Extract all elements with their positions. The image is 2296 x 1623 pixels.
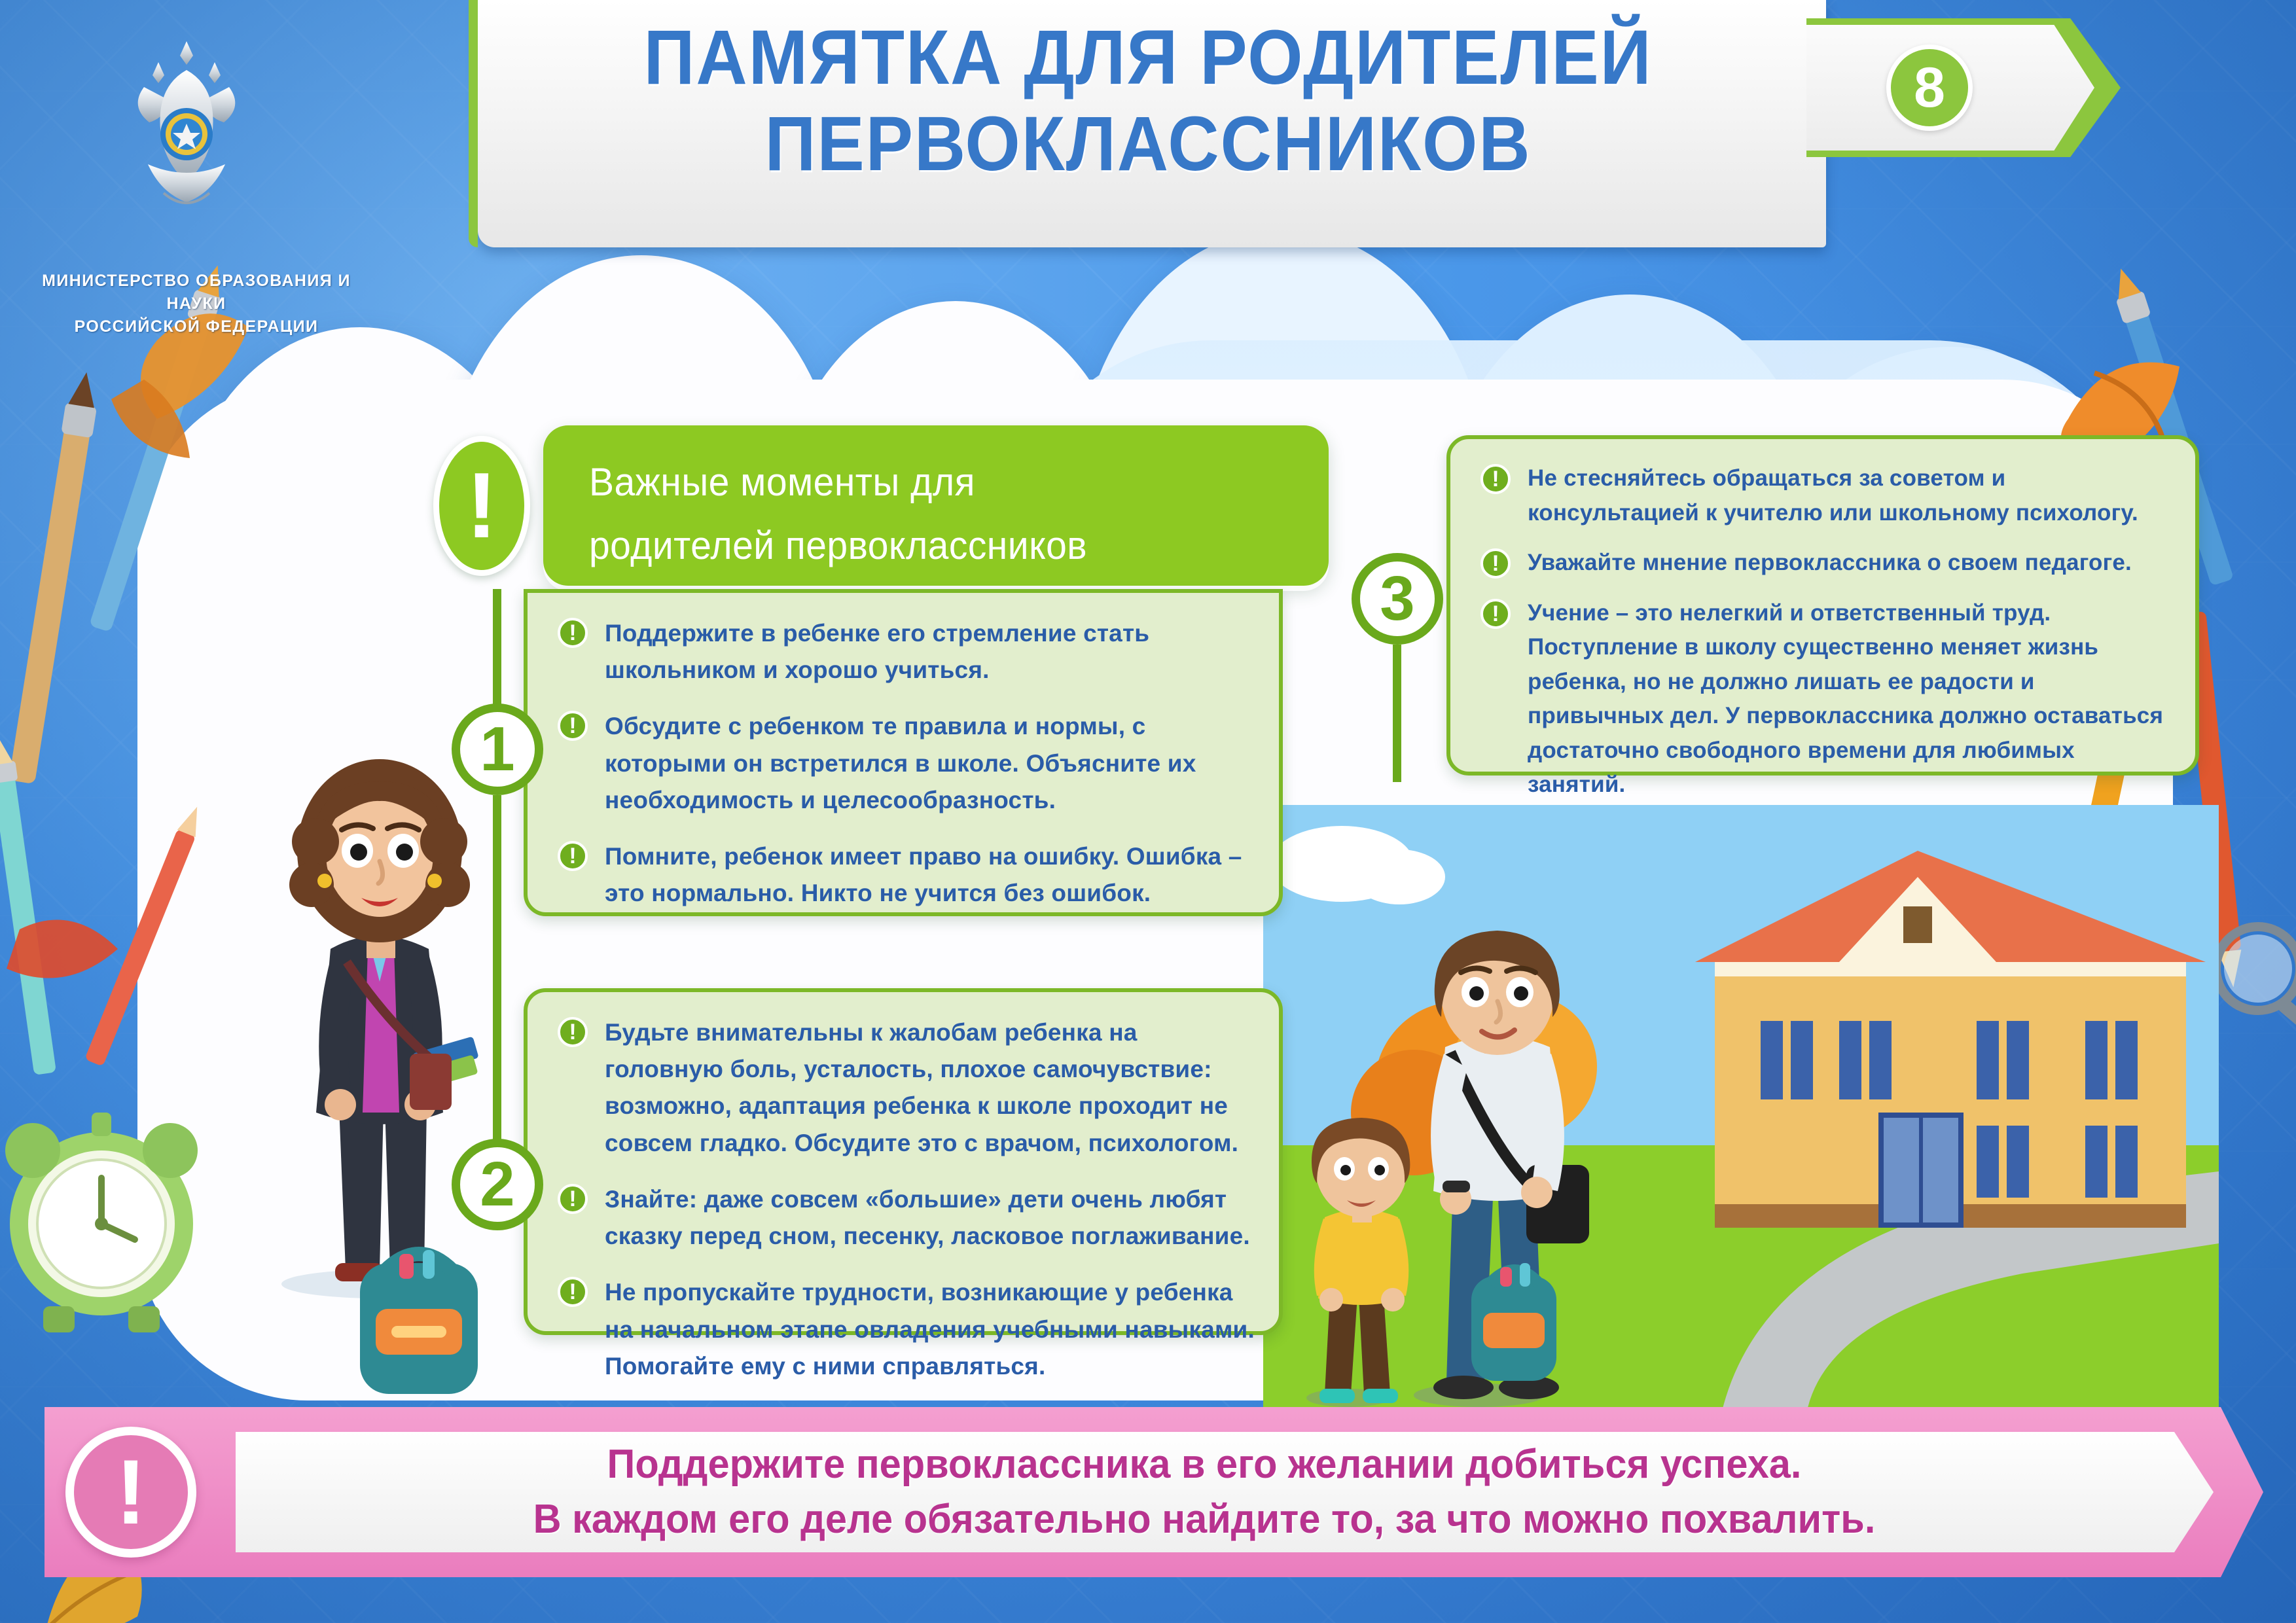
page-number-badge: 8 — [1886, 45, 1973, 131]
exclamation-bullet-icon: ! — [1480, 599, 1511, 629]
exclamation-bullet-icon: ! — [558, 1017, 588, 1047]
footer-line-1: Поддержите первоклассника в его желании … — [274, 1437, 2134, 1492]
exclamation-bullet-icon: ! — [558, 1184, 588, 1214]
russian-federation-eagle-emblem-icon — [124, 36, 249, 239]
list-item: ! Помните, ребенок имеет право на ошибку… — [554, 838, 1257, 912]
section-number-3: 3 — [1352, 553, 1443, 645]
list-item: ! Обсудите с ребенком те правила и нормы… — [554, 708, 1257, 819]
intro-banner-text: Важные моменты для родителей первоклассн… — [589, 450, 1267, 577]
marker-stem — [493, 589, 501, 713]
poster-root: ПАМЯТКА ДЛЯ РОДИТЕЛЕЙ ПЕРВОКЛАССНИКОВ 8 — [0, 0, 2296, 1623]
exclamation-bullet-icon: ! — [558, 841, 588, 871]
list-item-text: Учение – это нелегкий и ответственный тр… — [1528, 600, 2163, 798]
list-item: ! Уважайте мнение первоклассника о своем… — [1477, 546, 2173, 580]
list-item-text: Не пропускайте трудности, возникающие у … — [605, 1279, 1255, 1379]
alarm-clock-icon — [0, 1073, 223, 1348]
list-item-text: Обсудите с ребенком те правила и нормы, … — [605, 713, 1196, 813]
section-number-1: 1 — [452, 704, 543, 795]
list-item-text: Помните, ребенок имеет право на ошибку. … — [605, 843, 1242, 906]
exclamation-bullet-icon: ! — [558, 1277, 588, 1307]
exclamation-bullet-icon: ! — [558, 618, 588, 648]
list-item-text: Уважайте мнение первоклассника о своем п… — [1528, 550, 2132, 575]
exclamation-bullet-icon: ! — [1480, 464, 1511, 494]
ministry-label-line2: РОССИЙСКОЙ ФЕДЕРАЦИИ — [13, 315, 380, 338]
backpack-icon — [321, 1211, 517, 1407]
exclamation-bullet-icon: ! — [558, 711, 588, 741]
ministry-label-line1: МИНИСТЕРСТВО ОБРАЗОВАНИЯ И НАУКИ — [13, 270, 380, 315]
list-item-text: Не стесняйтесь обращаться за советом и к… — [1528, 465, 2138, 526]
marker-stem — [493, 795, 501, 1188]
section-number-2: 2 — [452, 1139, 543, 1230]
list-item: ! Будьте внимательны к жалобам ребенка н… — [554, 1014, 1257, 1162]
list-item: ! Знайте: даже совсем «большие» дети оче… — [554, 1181, 1257, 1255]
footer-line-2: В каждом его деле обязательно найдите то… — [274, 1492, 2134, 1547]
footer-text: Поддержите первоклассника в его желании … — [274, 1437, 2134, 1548]
section-panel-1: ! Поддержите в ребенке его стремление ст… — [524, 589, 1283, 916]
intro-line-1: Важные моменты для — [589, 450, 1267, 514]
school-building-scene-icon — [1263, 805, 2219, 1414]
marker-stem — [1393, 645, 1401, 782]
section-panel-3: ! Не стесняйтесь обращаться за советом и… — [1446, 435, 2199, 776]
exclamation-icon: ! — [433, 436, 530, 576]
intro-line-2: родителей первоклассников — [589, 514, 1267, 577]
exclamation-bullet-icon: ! — [1480, 548, 1511, 579]
section-panel-2: ! Будьте внимательны к жалобам ребенка н… — [524, 988, 1283, 1335]
list-item: ! Учение – это нелегкий и ответственный … — [1477, 596, 2173, 802]
list-item: ! Не стесняйтесь обращаться за советом и… — [1477, 461, 2173, 530]
list-item-text: Будьте внимательны к жалобам ребенка на … — [605, 1019, 1238, 1156]
footer-exclamation-icon: ! — [65, 1427, 196, 1558]
ministry-label: МИНИСТЕРСТВО ОБРАЗОВАНИЯ И НАУКИ РОССИЙС… — [13, 270, 380, 338]
list-item: ! Не пропускайте трудности, возникающие … — [554, 1274, 1257, 1385]
list-item: ! Поддержите в ребенке его стремление ст… — [554, 615, 1257, 688]
intro-banner: Важные моменты для родителей первоклассн… — [543, 425, 1329, 586]
list-item-text: Знайте: даже совсем «большие» дети очень… — [605, 1186, 1250, 1249]
list-item-text: Поддержите в ребенке его стремление стат… — [605, 620, 1149, 683]
